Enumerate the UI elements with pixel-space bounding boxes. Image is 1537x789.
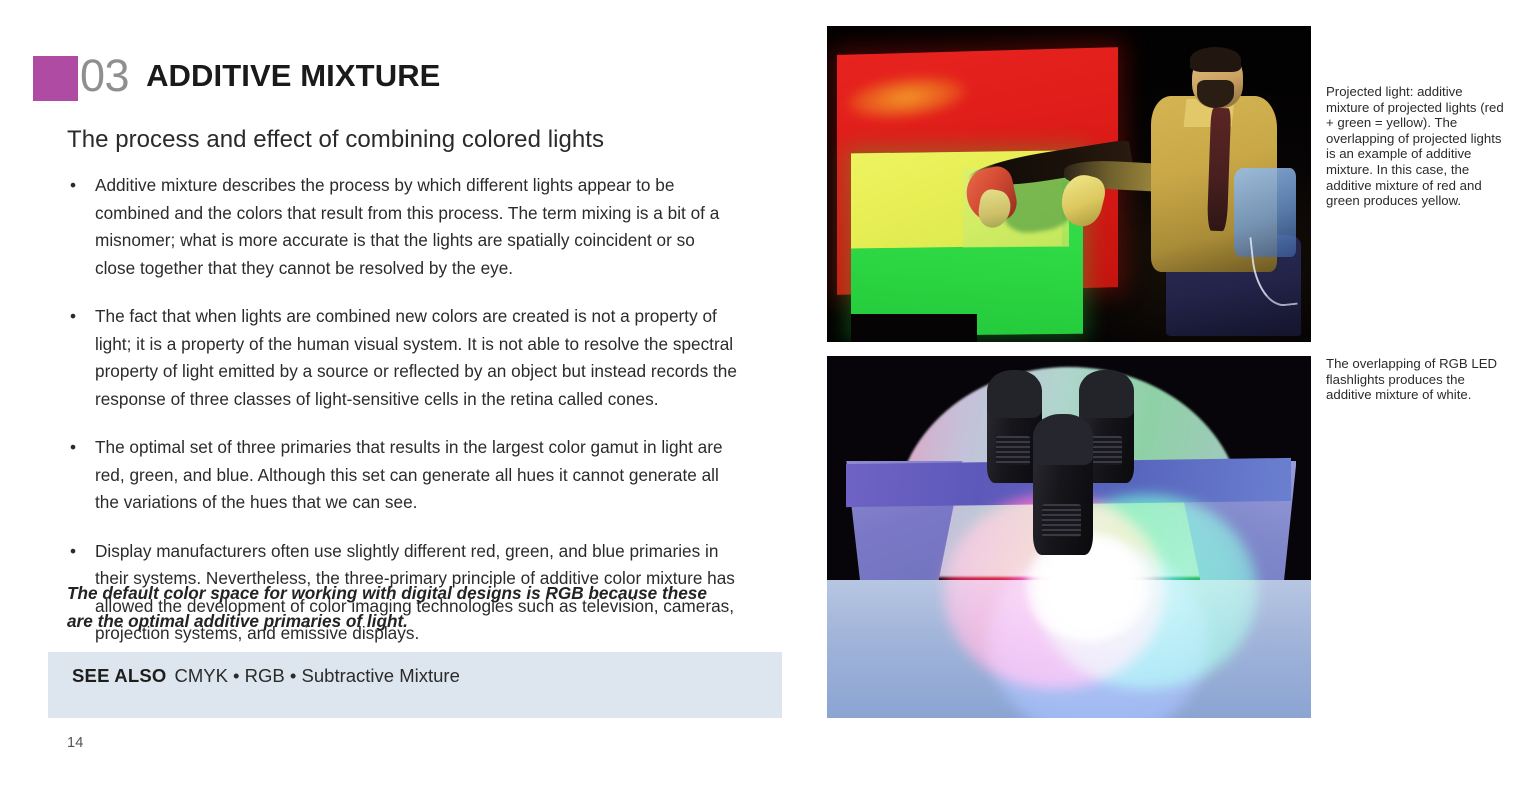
flashlight-left-grip bbox=[996, 436, 1030, 465]
flashlight-center-head bbox=[1033, 414, 1094, 465]
list-item-text: The fact that when lights are combined n… bbox=[95, 306, 737, 409]
hair bbox=[1190, 47, 1241, 72]
list-item-text: The optimal set of three primaries that … bbox=[95, 437, 723, 512]
bullet-marker-icon: • bbox=[70, 303, 76, 331]
flashlight-center-grip bbox=[1042, 504, 1081, 537]
flashlight-right-head bbox=[1079, 370, 1135, 417]
bullet-marker-icon: • bbox=[70, 172, 76, 200]
bullet-marker-icon: • bbox=[70, 538, 76, 566]
green-projection-notch bbox=[851, 314, 977, 342]
list-item: • The optimal set of three primaries tha… bbox=[67, 434, 739, 517]
page-title: ADDITIVE MIXTURE bbox=[146, 52, 440, 100]
bullet-marker-icon: • bbox=[70, 434, 76, 462]
list-item-text: Additive mixture describes the process b… bbox=[95, 175, 719, 278]
left-page: 03 ADDITIVE MIXTURE The process and effe… bbox=[0, 0, 768, 789]
pull-quote: The default color space for working with… bbox=[67, 580, 727, 635]
rgb-led-flashlights-photo bbox=[827, 356, 1311, 718]
chapter-number: 03 bbox=[80, 52, 129, 100]
figure-caption-projected-lights: Projected light: additive mixture of pro… bbox=[1326, 84, 1504, 209]
list-item: • Additive mixture describes the process… bbox=[67, 172, 739, 282]
page-number-left: 14 bbox=[67, 735, 84, 751]
see-also-items: CMYK • RGB • Subtractive Mixture bbox=[174, 665, 459, 686]
list-item: • The fact that when lights are combined… bbox=[67, 303, 739, 413]
see-also-box: SEE ALSOCMYK • RGB • Subtractive Mixture bbox=[48, 652, 782, 718]
page-subtitle: The process and effect of combining colo… bbox=[67, 125, 604, 155]
chapter-heading: 03 ADDITIVE MIXTURE bbox=[33, 52, 440, 101]
book-spread: 03 ADDITIVE MIXTURE The process and effe… bbox=[0, 0, 1537, 789]
flashlight-right-grip bbox=[1088, 436, 1122, 465]
see-also-label: SEE ALSO bbox=[72, 665, 166, 686]
flashlight-left-head bbox=[987, 370, 1043, 417]
figure-caption-rgb-led: The overlapping of RGB LED flashlights p… bbox=[1326, 356, 1504, 403]
projected-lights-photo bbox=[827, 26, 1311, 342]
see-also-content: SEE ALSOCMYK • RGB • Subtractive Mixture bbox=[72, 663, 460, 689]
chapter-color-swatch bbox=[33, 56, 78, 101]
beard bbox=[1197, 80, 1233, 108]
